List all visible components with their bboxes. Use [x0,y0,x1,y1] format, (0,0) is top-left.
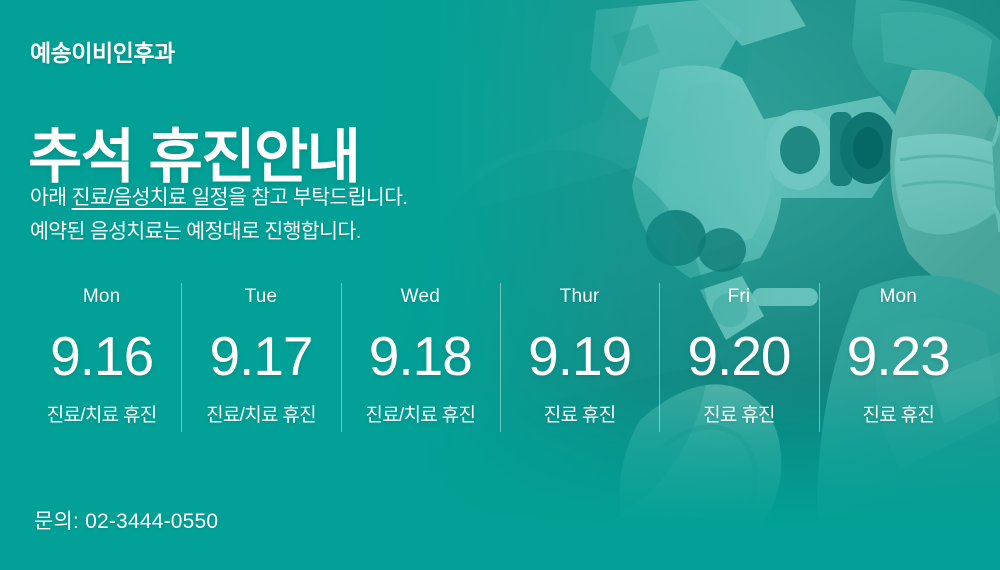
day-date: 9.19 [500,321,659,391]
schedule-day-cell: Thur 9.19 진료 휴진 [500,278,659,438]
day-of-week: Thur [500,285,659,309]
day-date: 9.17 [181,321,340,391]
schedule-day-cell: Wed 9.18 진료/치료 휴진 [341,278,500,438]
notice-subtitle-line-1: 아래 진료/음성치료 일정을 참고 부탁드립니다. [30,181,408,215]
day-of-week: Fri [659,285,818,309]
day-note: 진료 휴진 [819,403,978,429]
day-date: 9.18 [341,321,500,391]
subtitle-prefix: 아래 [30,186,72,209]
notice-subtitle-line-2: 예약된 음성치료는 예정대로 진행합니다. [30,215,408,249]
day-date: 9.20 [659,321,818,391]
day-of-week: Mon [22,285,181,309]
schedule-day-cell: Mon 9.16 진료/치료 휴진 [22,278,181,438]
schedule-day-cell: Fri 9.20 진료 휴진 [659,278,818,438]
day-note: 진료 휴진 [659,403,818,429]
day-note: 진료/치료 휴진 [341,403,500,429]
schedule-day-cell: Mon 9.23 진료 휴진 [819,278,978,438]
contact-phone: 문의: 02-3444-0550 [34,505,218,535]
subtitle-underlined-phrase: 진료/음성치료 일정 [72,186,228,209]
day-note: 진료/치료 휴진 [181,403,340,429]
day-of-week: Mon [819,285,978,309]
day-date: 9.16 [22,321,181,391]
closure-schedule: Mon 9.16 진료/치료 휴진 Tue 9.17 진료/치료 휴진 Wed … [22,278,978,438]
clinic-name: 예송이비인후과 [30,40,175,68]
day-note: 진료 휴진 [500,403,659,429]
day-date: 9.23 [819,321,978,391]
banner-content: 예송이비인후과 추석 휴진안내 아래 진료/음성치료 일정을 참고 부탁드립니다… [0,0,1000,570]
day-note: 진료/치료 휴진 [22,403,181,429]
notice-subtitle: 아래 진료/음성치료 일정을 참고 부탁드립니다. 예약된 음성치료는 예정대로… [30,181,408,249]
schedule-day-cell: Tue 9.17 진료/치료 휴진 [181,278,340,438]
holiday-notice-banner: 예송이비인후과 추석 휴진안내 아래 진료/음성치료 일정을 참고 부탁드립니다… [0,0,1000,570]
day-of-week: Tue [181,285,340,309]
day-of-week: Wed [341,285,500,309]
subtitle-suffix: 을 참고 부탁드립니다. [228,186,408,209]
